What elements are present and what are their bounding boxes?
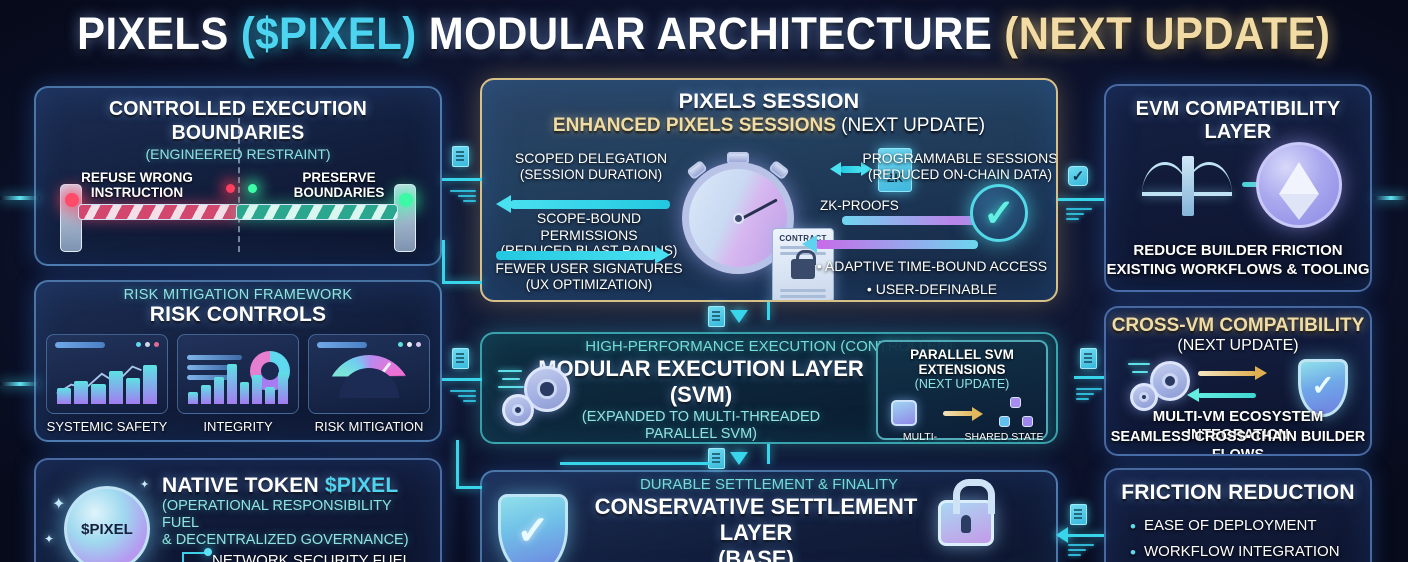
token-title-ticker: $PIXEL xyxy=(325,474,399,497)
ethereum-logo-icon xyxy=(1256,142,1342,228)
session-left-item-1: SCOPED DELEGATION (SESSION DURATION) xyxy=(498,150,684,183)
arrow-head-down xyxy=(730,310,748,323)
panel-evm-compatibility: EVM COMPATIBILITY LAYER REDUCE BUILDER F… xyxy=(1104,84,1372,292)
connector-risk-to-execution xyxy=(442,378,482,381)
settlement-title-line1: CONSERVATIVE SETTLEMENT LAYER xyxy=(574,494,938,546)
connector-left-elbow xyxy=(442,281,482,284)
arrow-head-left xyxy=(1056,527,1068,543)
pixel-coin-icon: $PIXEL xyxy=(64,486,150,562)
token-sub-line2: & DECENTRALIZED GOVERNANCE) xyxy=(162,532,432,549)
ambient-glow xyxy=(1374,196,1408,200)
card-dots xyxy=(398,342,421,347)
panel-friction-reduction: FRICTION REDUCTION EASE OF DEPLOYMENT WO… xyxy=(1104,468,1372,562)
document-icon xyxy=(708,448,725,469)
zk-proofs-label: ZK-PROOFS xyxy=(820,198,899,213)
risk-eyebrow: RISK MITIGATION FRAMEWORK xyxy=(36,287,440,303)
shared-state-nodes-icon xyxy=(999,397,1033,429)
connector-left-to-session xyxy=(442,178,482,181)
speed-line xyxy=(502,378,520,380)
arrow-head-left xyxy=(830,162,841,176)
check-badge-icon xyxy=(970,184,1028,242)
mini-red-lamp-icon xyxy=(226,184,235,193)
risk-title: RISK CONTROLS xyxy=(36,303,440,327)
barrier-gates-illustration xyxy=(48,178,428,252)
speed-line xyxy=(1132,371,1148,373)
scoped-delegation-line1: SCOPED DELEGATION xyxy=(498,150,684,167)
programmable-sessions-line1: PROGRAMMABLE SESSIONS xyxy=(862,150,1058,167)
connector-session-to-evm xyxy=(1058,198,1104,201)
svm-cap-right-l1: SHARED STATE xyxy=(965,431,1044,443)
svm-box-captions: MULTI-THREADEDPROCESSING SHARED STATEMAN… xyxy=(878,431,1046,444)
gold-arrow-icon xyxy=(943,411,973,416)
infographic-root: PIXELS ($PIXEL) MODULAR ARCHITECTURE (NE… xyxy=(0,0,1408,562)
gear-small-icon xyxy=(502,394,534,426)
arrow-gold-right xyxy=(1198,371,1256,376)
crossvm-subtitle: (NEXT UPDATE) xyxy=(1106,337,1370,355)
center-divider xyxy=(238,118,240,252)
evm-title: EVM COMPATIBILITY LAYER xyxy=(1106,98,1370,144)
signal-lines-icon xyxy=(450,190,476,205)
green-lamp-icon xyxy=(399,193,413,207)
svm-box-icons xyxy=(878,395,1046,431)
user-definable-line1: • USER-DEFINABLE xyxy=(808,281,1056,298)
arrow-head-down xyxy=(730,452,748,465)
panel-pixels-session: PIXELS SESSION ENHANCED PIXELS SESSIONS … xyxy=(480,78,1058,302)
gauge-icon xyxy=(326,355,412,398)
risk-card-systemic-safety xyxy=(46,334,168,414)
connector-execution-to-settlement xyxy=(767,444,770,464)
card-header-bar xyxy=(55,342,105,348)
token-heading: NATIVE TOKEN $PIXEL (OPERATIONAL RESPONS… xyxy=(162,474,432,549)
friction-title: FRICTION REDUCTION xyxy=(1106,481,1370,505)
document-icon xyxy=(708,306,725,327)
risk-caption-1: INTEGRITY xyxy=(177,419,299,434)
session-subtitle-plain: (NEXT UPDATE) xyxy=(836,115,985,136)
card-header-bar xyxy=(317,342,367,348)
coin-label: $PIXEL xyxy=(67,489,147,562)
session-left-item-3: FEWER USER SIGNATURES (UX OPTIMIZATION) xyxy=(488,260,690,293)
signal-lines-icon xyxy=(1066,208,1092,223)
barrier-red xyxy=(78,204,240,220)
settlement-title-line2: (BASE) xyxy=(574,546,938,562)
session-right-item-2: • ADAPTIVE TIME-BOUND ACCESS • USER-DEFI… xyxy=(808,240,1056,302)
connector-execution-to-crossvm xyxy=(1074,376,1104,379)
document-icon xyxy=(1070,504,1087,525)
connector-vertical-left xyxy=(442,240,445,282)
panel-risk-controls: RISK MITIGATION FRAMEWORK RISK CONTROLS xyxy=(34,280,442,442)
mini-green-lamp-icon xyxy=(248,184,257,193)
arrow-right-1 xyxy=(496,251,656,260)
friction-item-1: WORKFLOW INTEGRATION xyxy=(1144,543,1370,560)
speed-line xyxy=(1128,363,1150,365)
page-title: PIXELS ($PIXEL) MODULAR ARCHITECTURE (NE… xyxy=(0,0,1408,68)
svm-box-title: PARALLEL SVM EXTENSIONS xyxy=(878,347,1046,377)
user-definable-line2: SCOPE-BOUND PERMISSIONS xyxy=(808,297,1056,302)
token-title-main: NATIVE TOKEN xyxy=(162,474,325,497)
arrow-zk-right xyxy=(840,166,862,173)
crossvm-title: CROSS-VM COMPATIBILITY xyxy=(1106,315,1370,337)
svm-box-subtitle: (NEXT UPDATE) xyxy=(878,377,1046,391)
token-bullet-1: NETWORK SECURITY FUEL xyxy=(212,552,411,562)
sparkle-icon: ✦ xyxy=(52,494,65,514)
connector-vertical-left-2 xyxy=(456,440,459,486)
speed-line xyxy=(498,386,524,388)
friction-list: EASE OF DEPLOYMENT WORKFLOW INTEGRATION xyxy=(1106,517,1370,560)
bar-chart-icon xyxy=(188,360,288,404)
arrow-cyan-left xyxy=(1198,393,1256,398)
risk-card-risk-mitigation xyxy=(308,334,430,414)
panel-modular-execution-layer: HIGH-PERFORMANCE EXECUTION (CONTROLLED) … xyxy=(480,332,1058,444)
risk-card-integrity xyxy=(177,334,299,414)
crossvm-illustration xyxy=(1106,357,1370,413)
sparkle-icon: ✦ xyxy=(44,532,54,546)
check-icon: ✓ xyxy=(1068,166,1088,186)
risk-caption-0: SYSTEMIC SAFETY xyxy=(46,419,168,434)
parallel-svm-extensions-box: PARALLEL SVM EXTENSIONS (NEXT UPDATE) MU… xyxy=(876,340,1048,440)
title-part-next-update: (NEXT UPDATE) xyxy=(1004,8,1330,59)
speed-line xyxy=(498,370,522,372)
signal-lines-icon xyxy=(450,390,476,405)
session-right-item-1: PROGRAMMABLE SESSIONS (REDUCED ON-CHAIN … xyxy=(862,150,1058,183)
risk-cards xyxy=(36,327,440,414)
panel-conservative-settlement-layer: DURABLE SETTLEMENT & FINALITY CONSERVATI… xyxy=(480,470,1058,562)
barrier-green xyxy=(236,204,398,220)
evm-caption-line2: EXISTING WORKFLOWS & TOOLING xyxy=(1106,261,1370,279)
shield-check-icon xyxy=(498,494,568,562)
bridge-tower xyxy=(1182,156,1194,216)
session-title: PIXELS SESSION xyxy=(482,89,1056,114)
adaptive-time-bound: • ADAPTIVE TIME-BOUND ACCESS xyxy=(808,258,1056,275)
fewer-signatures-line1: FEWER USER SIGNATURES xyxy=(488,260,690,277)
document-icon xyxy=(452,348,469,369)
fewer-signatures-line2: (UX OPTIMIZATION) xyxy=(488,277,690,294)
gear-small-icon xyxy=(1130,383,1158,411)
signal-lines-icon xyxy=(1068,544,1094,559)
document-icon xyxy=(452,146,469,167)
panel-cross-vm-compatibility: CROSS-VM COMPATIBILITY (NEXT UPDATE) MUL… xyxy=(1104,306,1372,456)
bridge-icon xyxy=(1142,152,1232,216)
document-icon xyxy=(1080,348,1097,369)
connector-horizontal-settlement xyxy=(560,462,710,465)
red-lamp-icon xyxy=(65,193,79,207)
crossvm-caption-line2: SEAMLESS CROSS-CHAIN BUILDER FLOWS xyxy=(1106,428,1370,456)
svm-cap-right-l2: MANAGEMENT xyxy=(966,443,1041,444)
card-dots xyxy=(136,342,159,347)
gauge-needle xyxy=(369,362,391,389)
cpu-chip-icon xyxy=(891,400,917,426)
scope-bound-line1: SCOPE-BOUND PERMISSIONS xyxy=(488,210,690,243)
bar-chart-icon xyxy=(57,360,157,404)
padlock-icon xyxy=(938,500,994,546)
risk-captions: SYSTEMIC SAFETY INTEGRITY RISK MITIGATIO… xyxy=(36,414,440,434)
panel-native-token: ✦ ✦ ✦ $PIXEL NATIVE TOKEN $PIXEL (OPERAT… xyxy=(34,458,442,562)
arrow-left-1 xyxy=(510,200,670,209)
risk-caption-2: RISK MITIGATION xyxy=(308,419,430,434)
title-part-3: MODULAR ARCHITECTURE xyxy=(417,8,1005,59)
friction-item-0: EASE OF DEPLOYMENT xyxy=(1144,517,1370,534)
ambient-glow xyxy=(0,196,40,200)
token-sub-line1: (OPERATIONAL RESPONSIBILITY FUEL xyxy=(162,498,432,532)
scoped-delegation-line2: (SESSION DURATION) xyxy=(498,167,684,184)
title-part-1: PIXELS xyxy=(77,8,241,59)
connector-left-to-settlement xyxy=(456,486,482,489)
evm-caption-line1: REDUCE BUILDER FRICTION xyxy=(1106,242,1370,260)
session-subtitle: ENHANCED PIXELS SESSIONS (NEXT UPDATE) xyxy=(482,115,1056,137)
signal-lines-icon xyxy=(1076,388,1102,403)
ambient-glow xyxy=(0,382,40,386)
arrow-right-pink xyxy=(842,216,990,225)
stopwatch-hub xyxy=(733,213,744,224)
token-node-dot xyxy=(204,548,212,556)
title-part-ticker: ($PIXEL) xyxy=(241,8,417,59)
connector-session-to-execution xyxy=(767,302,770,320)
session-subtitle-accent: ENHANCED PIXELS SESSIONS xyxy=(553,115,836,136)
panel-controlled-execution-boundaries: CONTROLLED EXECUTION BOUNDARIES (ENGINEE… xyxy=(34,86,442,266)
svm-cap-left-l1: MULTI-THREADED xyxy=(891,431,949,444)
programmable-sessions-line2: (REDUCED ON-CHAIN DATA) xyxy=(862,167,1058,184)
gears-icon xyxy=(498,360,578,430)
